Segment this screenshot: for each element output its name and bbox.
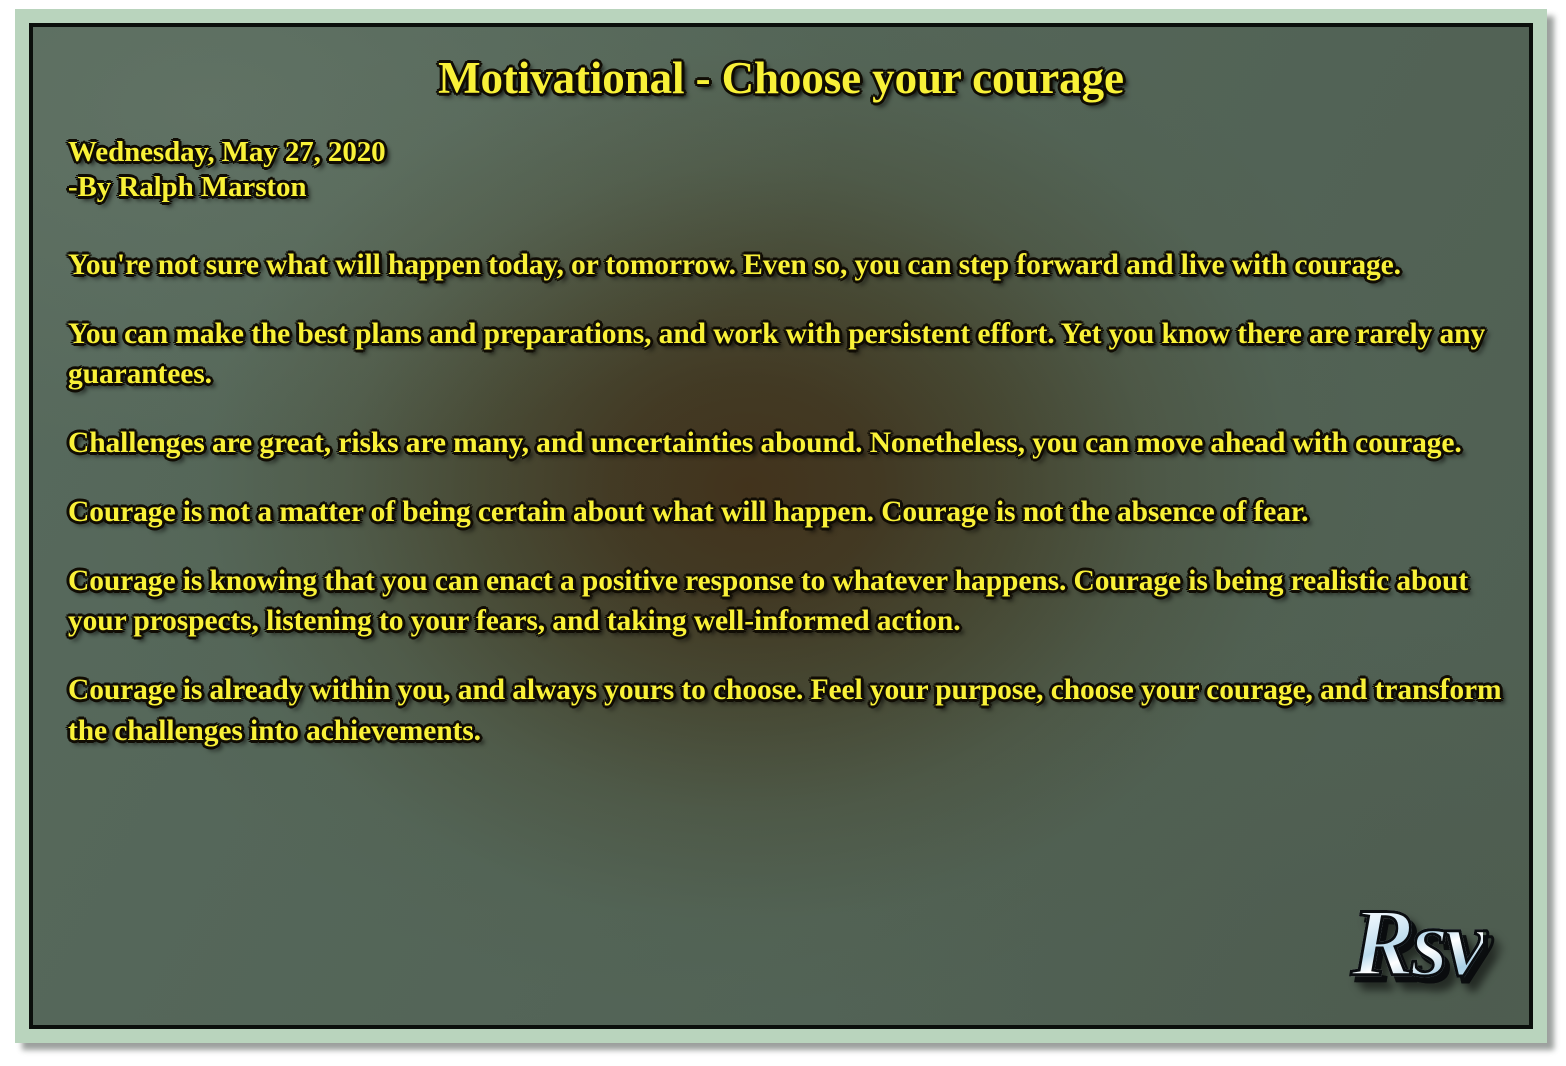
quote-body: You're not sure what will happen today, … bbox=[68, 245, 1523, 751]
page-title: Motivational - Choose your courage bbox=[33, 55, 1529, 102]
publish-date: Wednesday, May 27, 2020 bbox=[68, 135, 386, 170]
poster-content: Motivational - Choose your courage Wedne… bbox=[33, 27, 1529, 1025]
document-meta: Wednesday, May 27, 2020 -By Ralph Marsto… bbox=[68, 135, 386, 206]
paragraph: Courage is not a matter of being certain… bbox=[68, 492, 1523, 533]
paragraph: Courage is already within you, and alway… bbox=[68, 670, 1523, 751]
paragraph: Courage is knowing that you can enact a … bbox=[68, 561, 1523, 642]
paragraph: You're not sure what will happen today, … bbox=[68, 245, 1523, 286]
poster-frame: Motivational - Choose your courage Wedne… bbox=[15, 9, 1547, 1043]
frame-keyline: Motivational - Choose your courage Wedne… bbox=[29, 23, 1533, 1029]
poster-page: Motivational - Choose your courage Wedne… bbox=[0, 0, 1566, 1066]
author-byline: -By Ralph Marston bbox=[68, 170, 386, 205]
paragraph: Challenges are great, risks are many, an… bbox=[68, 423, 1523, 464]
paragraph: You can make the best plans and preparat… bbox=[68, 314, 1523, 395]
rsv-logo: Rsv bbox=[1293, 881, 1483, 991]
rsv-logo-text: Rsv bbox=[1351, 895, 1483, 991]
